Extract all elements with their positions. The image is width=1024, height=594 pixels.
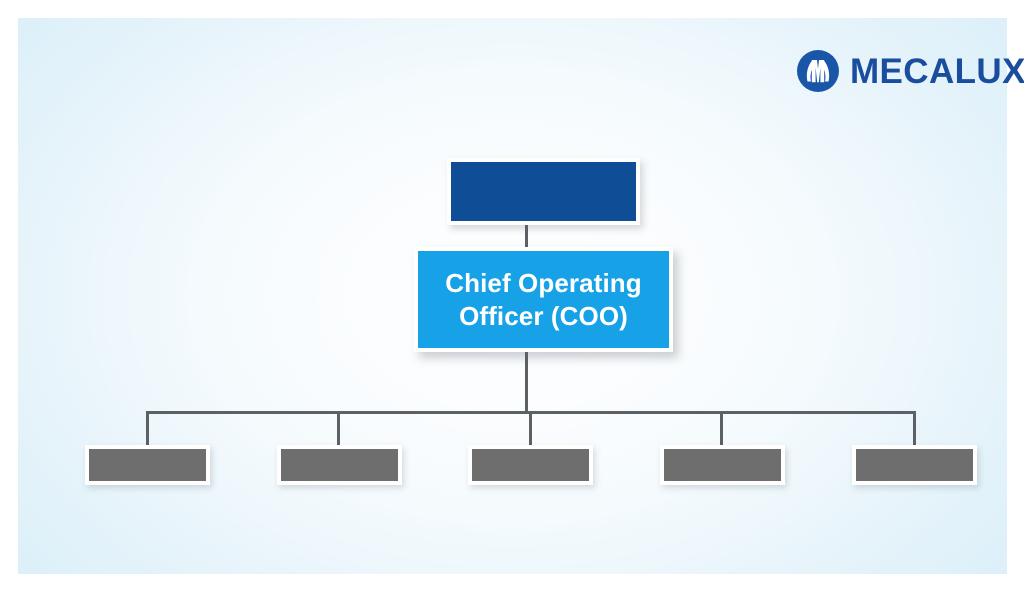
mecalux-m-circle-icon <box>796 49 840 93</box>
connector-top-to-coo <box>525 223 528 249</box>
connector-drop-child-3 <box>529 411 532 446</box>
org-node-child-3[interactable] <box>468 445 593 485</box>
mecalux-logo: MECALUX <box>796 49 1024 93</box>
connector-drop-child-4 <box>720 411 723 446</box>
org-node-child-5[interactable] <box>852 445 977 485</box>
connector-drop-child-2 <box>337 411 340 446</box>
org-node-child-2[interactable] <box>277 445 402 485</box>
slide-canvas: MECALUX Chief Operating Officer (COO) <box>0 0 1024 594</box>
connector-drop-child-5 <box>913 411 916 446</box>
org-node-top[interactable] <box>447 158 640 225</box>
mecalux-wordmark: MECALUX <box>850 54 1024 89</box>
connector-coo-to-bus <box>525 350 528 412</box>
org-node-child-4[interactable] <box>660 445 785 485</box>
slide-background: MECALUX Chief Operating Officer (COO) <box>18 18 1007 574</box>
org-node-coo[interactable]: Chief Operating Officer (COO) <box>414 247 673 352</box>
org-node-child-1[interactable] <box>85 445 210 485</box>
org-node-coo-label: Chief Operating Officer (COO) <box>418 267 669 333</box>
connector-drop-child-1 <box>146 411 149 446</box>
